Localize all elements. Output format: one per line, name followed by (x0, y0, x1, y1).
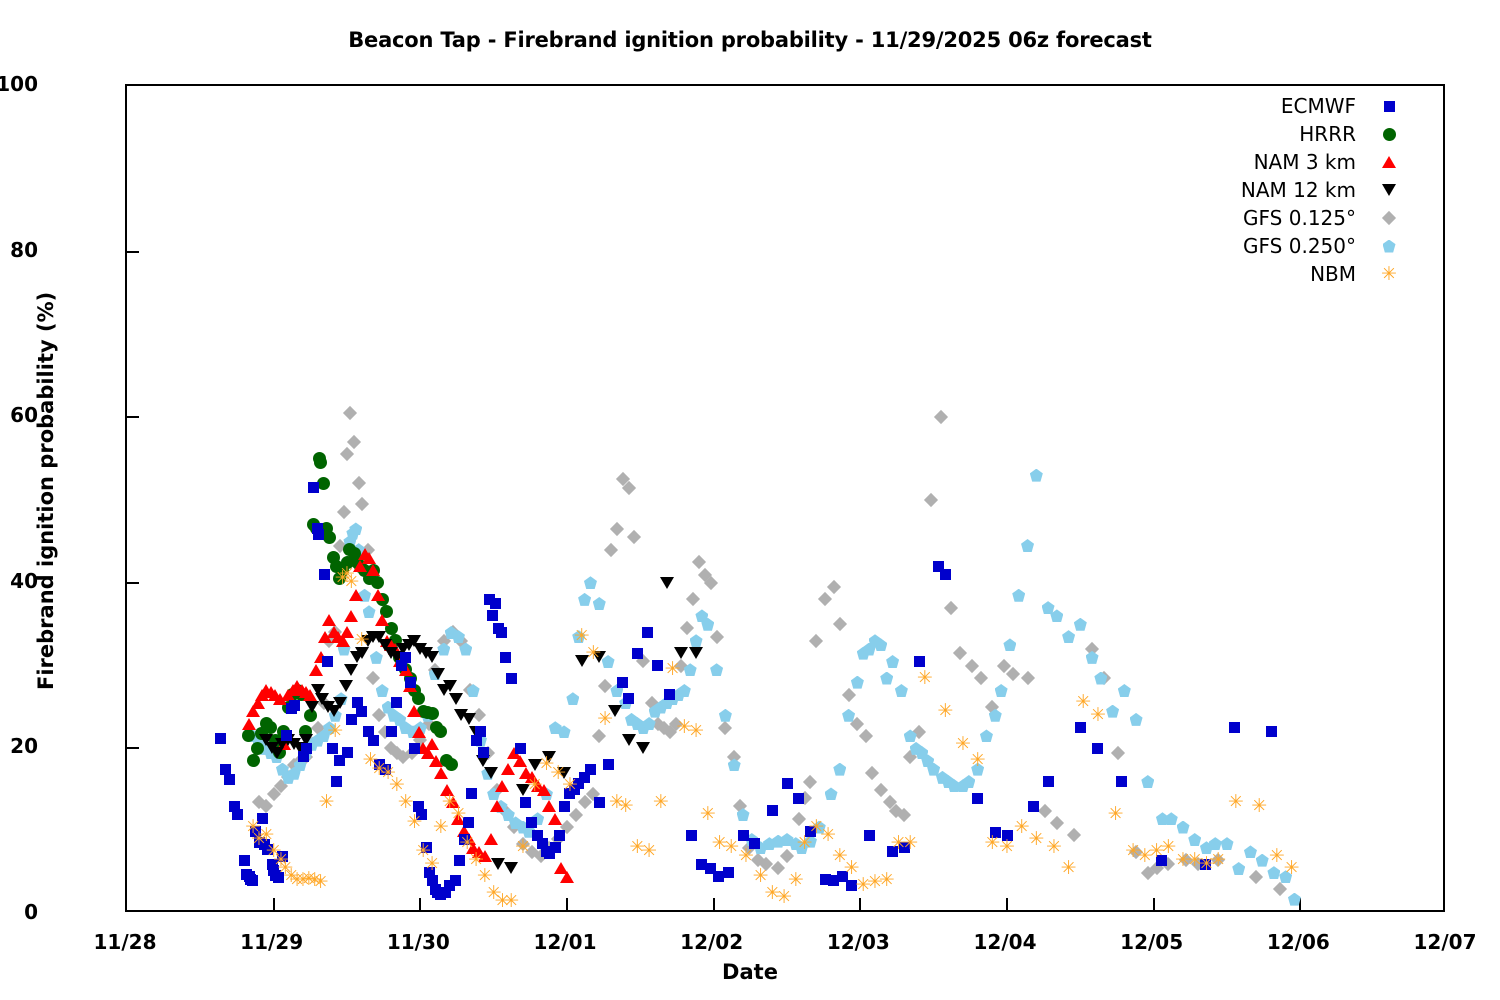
legend-marker (1383, 240, 1396, 253)
data-point: ✳ (406, 814, 423, 831)
data-point: ✳ (597, 711, 614, 728)
data-point: ✳ (955, 736, 972, 753)
data-point: ✳ (796, 835, 813, 852)
data-point: ✳ (1028, 831, 1045, 848)
y-tick-label: 0 (24, 900, 38, 924)
legend-marker (1383, 128, 1396, 141)
x-tick-label: 12/04 (974, 930, 1037, 954)
square-icon (1378, 95, 1400, 117)
firebrand-ignition-probability-chart: Beacon Tap - Firebrand ignition probabil… (0, 0, 1500, 1000)
legend-item-gfs-0-125[interactable]: GFS 0.125° (1150, 204, 1400, 232)
data-point: ✳ (916, 670, 933, 687)
data-point: ✳ (450, 806, 467, 823)
legend-label: NAM 12 km (1241, 178, 1356, 202)
data-point: ✳ (787, 872, 804, 889)
legend-marker (1382, 156, 1396, 168)
x-tick-label: 12/02 (680, 930, 743, 954)
data-point: ✳ (688, 723, 705, 740)
y-tick-label: 20 (10, 734, 38, 758)
data-point: ✳ (585, 645, 602, 662)
data-point: ✳ (617, 798, 634, 815)
x-tick-label: 11/30 (387, 930, 450, 954)
y-tick-label: 80 (10, 238, 38, 262)
y-tick-label: 60 (10, 403, 38, 427)
data-point: ✳ (1283, 860, 1300, 877)
data-point: ✳ (1227, 794, 1244, 811)
circle-icon (1378, 123, 1400, 145)
data-point: ✳ (515, 839, 532, 856)
y-tick-label: 40 (10, 569, 38, 593)
x-tick-label: 11/29 (240, 930, 303, 954)
data-point: ✳ (776, 889, 793, 906)
legend-item-gfs-0-250[interactable]: GFS 0.250° (1150, 232, 1400, 260)
data-point: ✳ (432, 819, 449, 836)
legend-marker: ✳ (1381, 266, 1398, 283)
legend-marker (1384, 101, 1395, 112)
data-point: ✳ (318, 794, 335, 811)
data-point: ✳ (1060, 860, 1077, 877)
data-point: ✳ (937, 703, 954, 720)
legend-label: NBM (1310, 262, 1356, 286)
data-point: ✳ (503, 893, 520, 910)
data-point: ✳ (652, 794, 669, 811)
data-point: ✳ (1045, 839, 1062, 856)
data-point: ✳ (699, 806, 716, 823)
diamond-icon (1378, 207, 1400, 229)
x-axis-label: Date (0, 960, 1500, 984)
data-point: ✳ (424, 856, 441, 873)
x-tick-label: 12/06 (1267, 930, 1330, 954)
x-tick-label: 12/03 (827, 930, 890, 954)
data-point: ✳ (343, 574, 360, 591)
asterisk-icon: ✳ (1378, 263, 1400, 285)
data-point: ✳ (561, 777, 578, 794)
y-tick-label: 100 (0, 72, 38, 96)
data-point: ✳ (902, 835, 919, 852)
legend-label: GFS 0.125° (1243, 206, 1356, 230)
legend-label: NAM 3 km (1254, 150, 1356, 174)
data-point: ✳ (999, 839, 1016, 856)
data-point: ✳ (397, 794, 414, 811)
x-tick-label: 12/05 (1120, 930, 1183, 954)
legend-marker (1382, 211, 1396, 225)
data-point: ✳ (1251, 798, 1268, 815)
data-point: ✳ (878, 872, 895, 889)
x-tick-label: 12/01 (534, 930, 597, 954)
data-point: ✳ (353, 632, 370, 649)
pentagon-icon (1378, 235, 1400, 257)
data-point: ✳ (641, 843, 658, 860)
x-tick-label: 12/07 (1414, 930, 1477, 954)
legend-marker (1382, 184, 1396, 196)
data-point: ✳ (312, 874, 329, 891)
legend-item-nam-12-km[interactable]: NAM 12 km (1150, 176, 1400, 204)
triangle-down-icon (1378, 179, 1400, 201)
legend-item-nam-3-km[interactable]: NAM 3 km (1150, 148, 1400, 176)
data-point: ✳ (969, 752, 986, 769)
legend-label: HRRR (1299, 122, 1356, 146)
legend-item-ecmwf[interactable]: ECMWF (1150, 92, 1400, 120)
chart-legend: ECMWFHRRRNAM 3 kmNAM 12 kmGFS 0.125°GFS … (1150, 92, 1400, 288)
data-point: ✳ (1107, 806, 1124, 823)
legend-label: GFS 0.250° (1243, 234, 1356, 258)
data-point: ✳ (526, 777, 543, 794)
legend-item-nbm[interactable]: NBM✳ (1150, 260, 1400, 288)
data-point: ✳ (820, 827, 837, 844)
chart-title: Beacon Tap - Firebrand ignition probabil… (0, 28, 1500, 52)
triangle-up-icon (1378, 151, 1400, 173)
legend-item-hrrr[interactable]: HRRR (1150, 120, 1400, 148)
data-point: ✳ (1210, 852, 1227, 869)
x-tick-label: 11/28 (94, 930, 157, 954)
data-point: ✳ (737, 848, 754, 865)
data-point: ✳ (327, 723, 344, 740)
legend-label: ECMWF (1281, 94, 1356, 118)
data-point: ✳ (664, 661, 681, 678)
data-point: ✳ (1089, 707, 1106, 724)
y-axis-label: Firebrand ignition probability (%) (34, 292, 58, 690)
